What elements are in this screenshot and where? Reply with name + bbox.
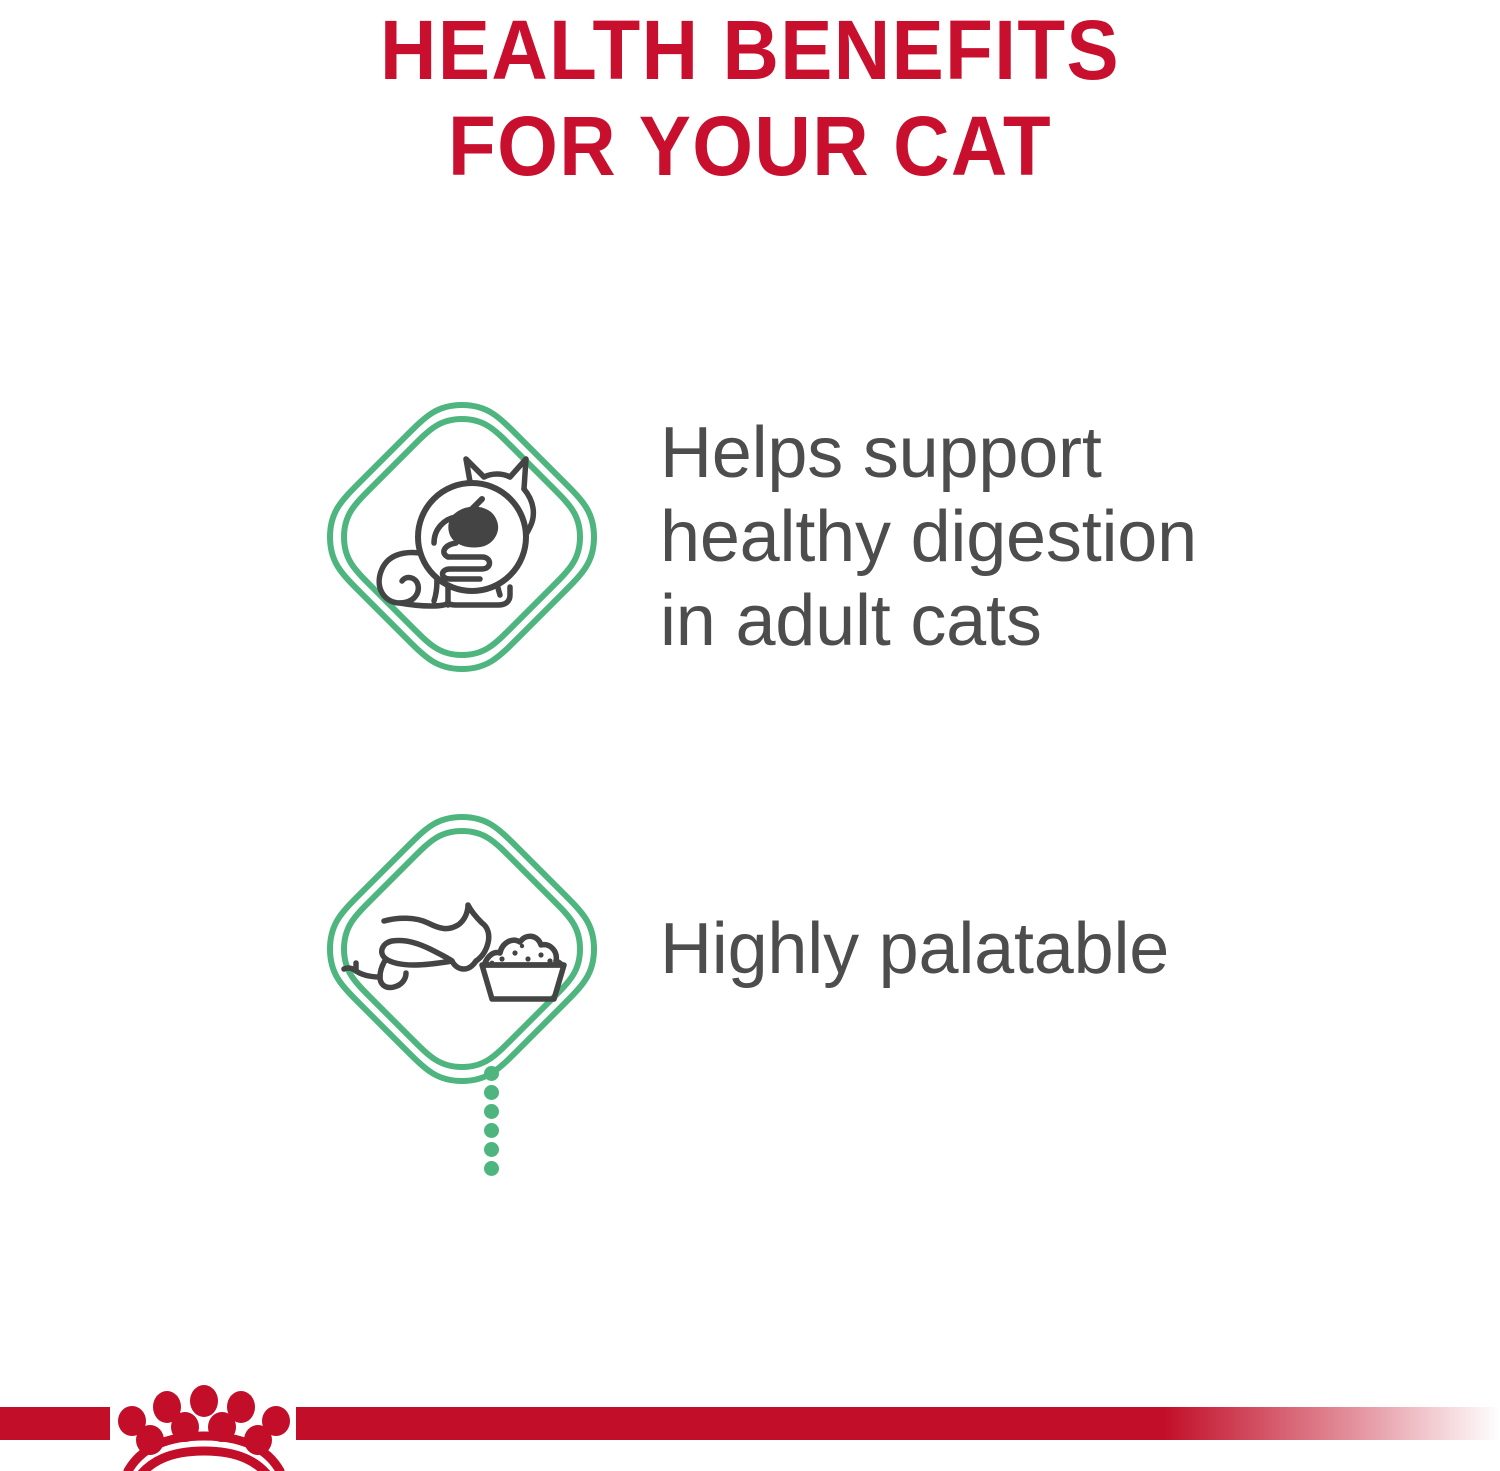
benefit-icon-cell	[0, 372, 660, 702]
page-title: HEALTH BENEFITS FOR YOUR CAT	[0, 0, 1500, 194]
benefit-item-digestion: Helps support healthy digestion in adult…	[0, 372, 1500, 702]
benefit-text-line: Highly palatable	[660, 907, 1470, 991]
connector-dot	[484, 1142, 499, 1157]
page-title-line-1: HEALTH BENEFITS	[53, 2, 1448, 98]
footer	[0, 1360, 1500, 1471]
benefit-text-line: Helps support	[660, 411, 1470, 495]
health-benefits-page: HEALTH BENEFITS FOR YOUR CAT	[0, 0, 1500, 1471]
connector-dot	[484, 1123, 499, 1138]
royal-canin-crown-logo	[112, 1374, 296, 1471]
benefit-text-line: healthy digestion	[660, 495, 1470, 579]
benefits-list: Helps support healthy digestion in adult…	[0, 372, 1500, 1114]
benefit-text-line: in adult cats	[660, 579, 1470, 663]
footer-bar-right	[296, 1407, 1500, 1440]
page-title-line-2: FOR YOUR CAT	[53, 98, 1448, 194]
footer-bar-left	[0, 1407, 110, 1440]
benefit-icon-cell	[0, 784, 660, 1114]
connector-dot	[484, 1161, 499, 1176]
benefit-text-digestion: Helps support healthy digestion in adult…	[660, 411, 1500, 663]
cat-eating-bowl-icon	[322, 809, 602, 1089]
cat-digestion-icon	[322, 397, 602, 677]
benefit-text-palatable: Highly palatable	[660, 907, 1500, 991]
benefit-item-palatable: Highly palatable	[0, 784, 1500, 1114]
